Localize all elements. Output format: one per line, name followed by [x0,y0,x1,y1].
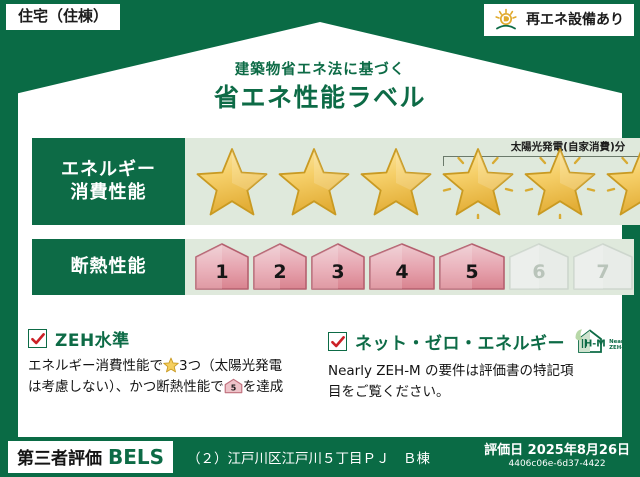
renewable-equipment-badge: 再エネ設備あり [484,4,634,36]
insulation-level-4: 4 [368,242,436,292]
insulation-level-value: 2 [252,242,308,292]
nzeb-heading: ネット・ゼロ・エネルギー H-M Nearly ZEH-M [328,326,620,356]
nzeb-desc-line1: Nearly ZEH-M の要件は評価書の特記項 [328,363,574,379]
check-icon [30,331,46,347]
zeh-desc-pre: エネルギー消費性能で [28,358,163,374]
zeh-desc-line2-post: を達成 [243,379,284,395]
insulation-level-value: 1 [194,242,250,292]
sun-icon [492,8,520,32]
label-subtitle: 建築物省エネ法に基づく [0,58,640,79]
zeh-heading: ZEH水準 [28,326,313,351]
insulation-level-value: 7 [572,242,634,292]
evaluation-id: 4406c06e-6d37-4422 [484,459,630,469]
zeh-standard-block: ZEH水準 エネルギー消費性能で 3つ（太陽光発電 は考慮しない）、かつ断熱性能… [28,326,313,398]
label-footer: 第三者評価 BELS （２）江戸川区江戸川５丁目ＰＪ Ｂ棟 評価日 2025年8… [0,437,640,477]
label-frame: 住宅（住棟） 再エネ設備あり 建築物省エネ法に基づく 省エネ性能ラベル [0,0,640,477]
zeh-desc-line2-pre: は考慮しない）、かつ断熱性能で [28,379,224,395]
net-zero-energy-block: ネット・ゼロ・エネルギー H-M Nearly ZEH-M Nearly ZEH… [328,326,620,403]
insulation-level-2: 2 [252,242,308,292]
zeh-m-logo-icon: H-M Nearly ZEH-M [573,326,635,356]
bels-en-label: BELS [108,445,164,469]
svg-text:ZEH-M: ZEH-M [609,345,629,351]
svg-text:5: 5 [231,384,237,393]
energy-performance-value: 太陽光発電(自家消費)分 [185,138,640,225]
insulation-performance-value: 1234567 [185,239,634,295]
renewable-equipment-label: 再エネ設備あり [526,13,624,27]
insulation-level-7: 7 [572,242,634,292]
bels-certification-mark: 第三者評価 BELS [8,441,173,473]
house-type-label: 住宅（住棟） [18,7,108,25]
star-icon [193,145,271,219]
insulation-level-1: 1 [194,242,250,292]
insulation-level-value: 6 [508,242,570,292]
insulation-label-text: 断熱性能 [71,256,147,279]
insulation-level-scale: 1234567 [185,242,634,292]
zeh-checkbox [28,329,47,348]
evaluation-info: 評価日 2025年8月26日 4406c06e-6d37-4422 [484,444,630,469]
check-icon [330,334,346,350]
inline-insulation-badge: 5 [224,378,243,394]
insulation-level-6: 6 [508,242,570,292]
insulation-performance-row: 断熱性能 1234567 [32,239,608,295]
energy-performance-label: エネルギー 消費性能 [32,138,185,225]
insulation-level-5: 5 [438,242,506,292]
nzeb-description: Nearly ZEH-M の要件は評価書の特記項 目をご覧ください。 [328,361,620,403]
nzeb-desc-line2: 目をご覧ください。 [328,384,450,400]
star-icon [275,145,353,219]
zeh-title: ZEH水準 [55,326,130,351]
house-type-tag: 住宅（住棟） [6,4,120,30]
energy-performance-row: エネルギー 消費性能 太陽光発電(自家消費)分 [32,138,608,225]
insulation-level-value: 3 [310,242,366,292]
property-address: （２）江戸川区江戸川５丁目ＰＪ Ｂ棟 [187,447,430,467]
star-icon [357,145,435,219]
zeh-description: エネルギー消費性能で 3つ（太陽光発電 は考慮しない）、かつ断熱性能で 5 を達… [28,356,313,398]
star-icon [439,145,517,219]
energy-label-line2: 消費性能 [71,182,147,205]
insulation-level-value: 5 [438,242,506,292]
bels-jp-label: 第三者評価 [17,444,102,469]
nzeb-checkbox [328,332,347,351]
label-title: 省エネ性能ラベル [0,78,640,114]
insulation-level-3: 3 [310,242,366,292]
insulation-level-value: 4 [368,242,436,292]
svg-text:H-M: H-M [584,339,605,350]
energy-label-line1: エネルギー [61,159,156,182]
inline-star-icon [163,357,179,373]
evaluation-date: 評価日 2025年8月26日 [484,444,630,459]
zeh-desc-mid: 3つ（太陽光発電 [179,358,282,374]
nzeb-title: ネット・ゼロ・エネルギー [355,329,565,354]
star-icon [521,145,599,219]
energy-star-rating [185,145,640,219]
insulation-performance-label: 断熱性能 [32,239,185,295]
star-icon [603,145,640,219]
